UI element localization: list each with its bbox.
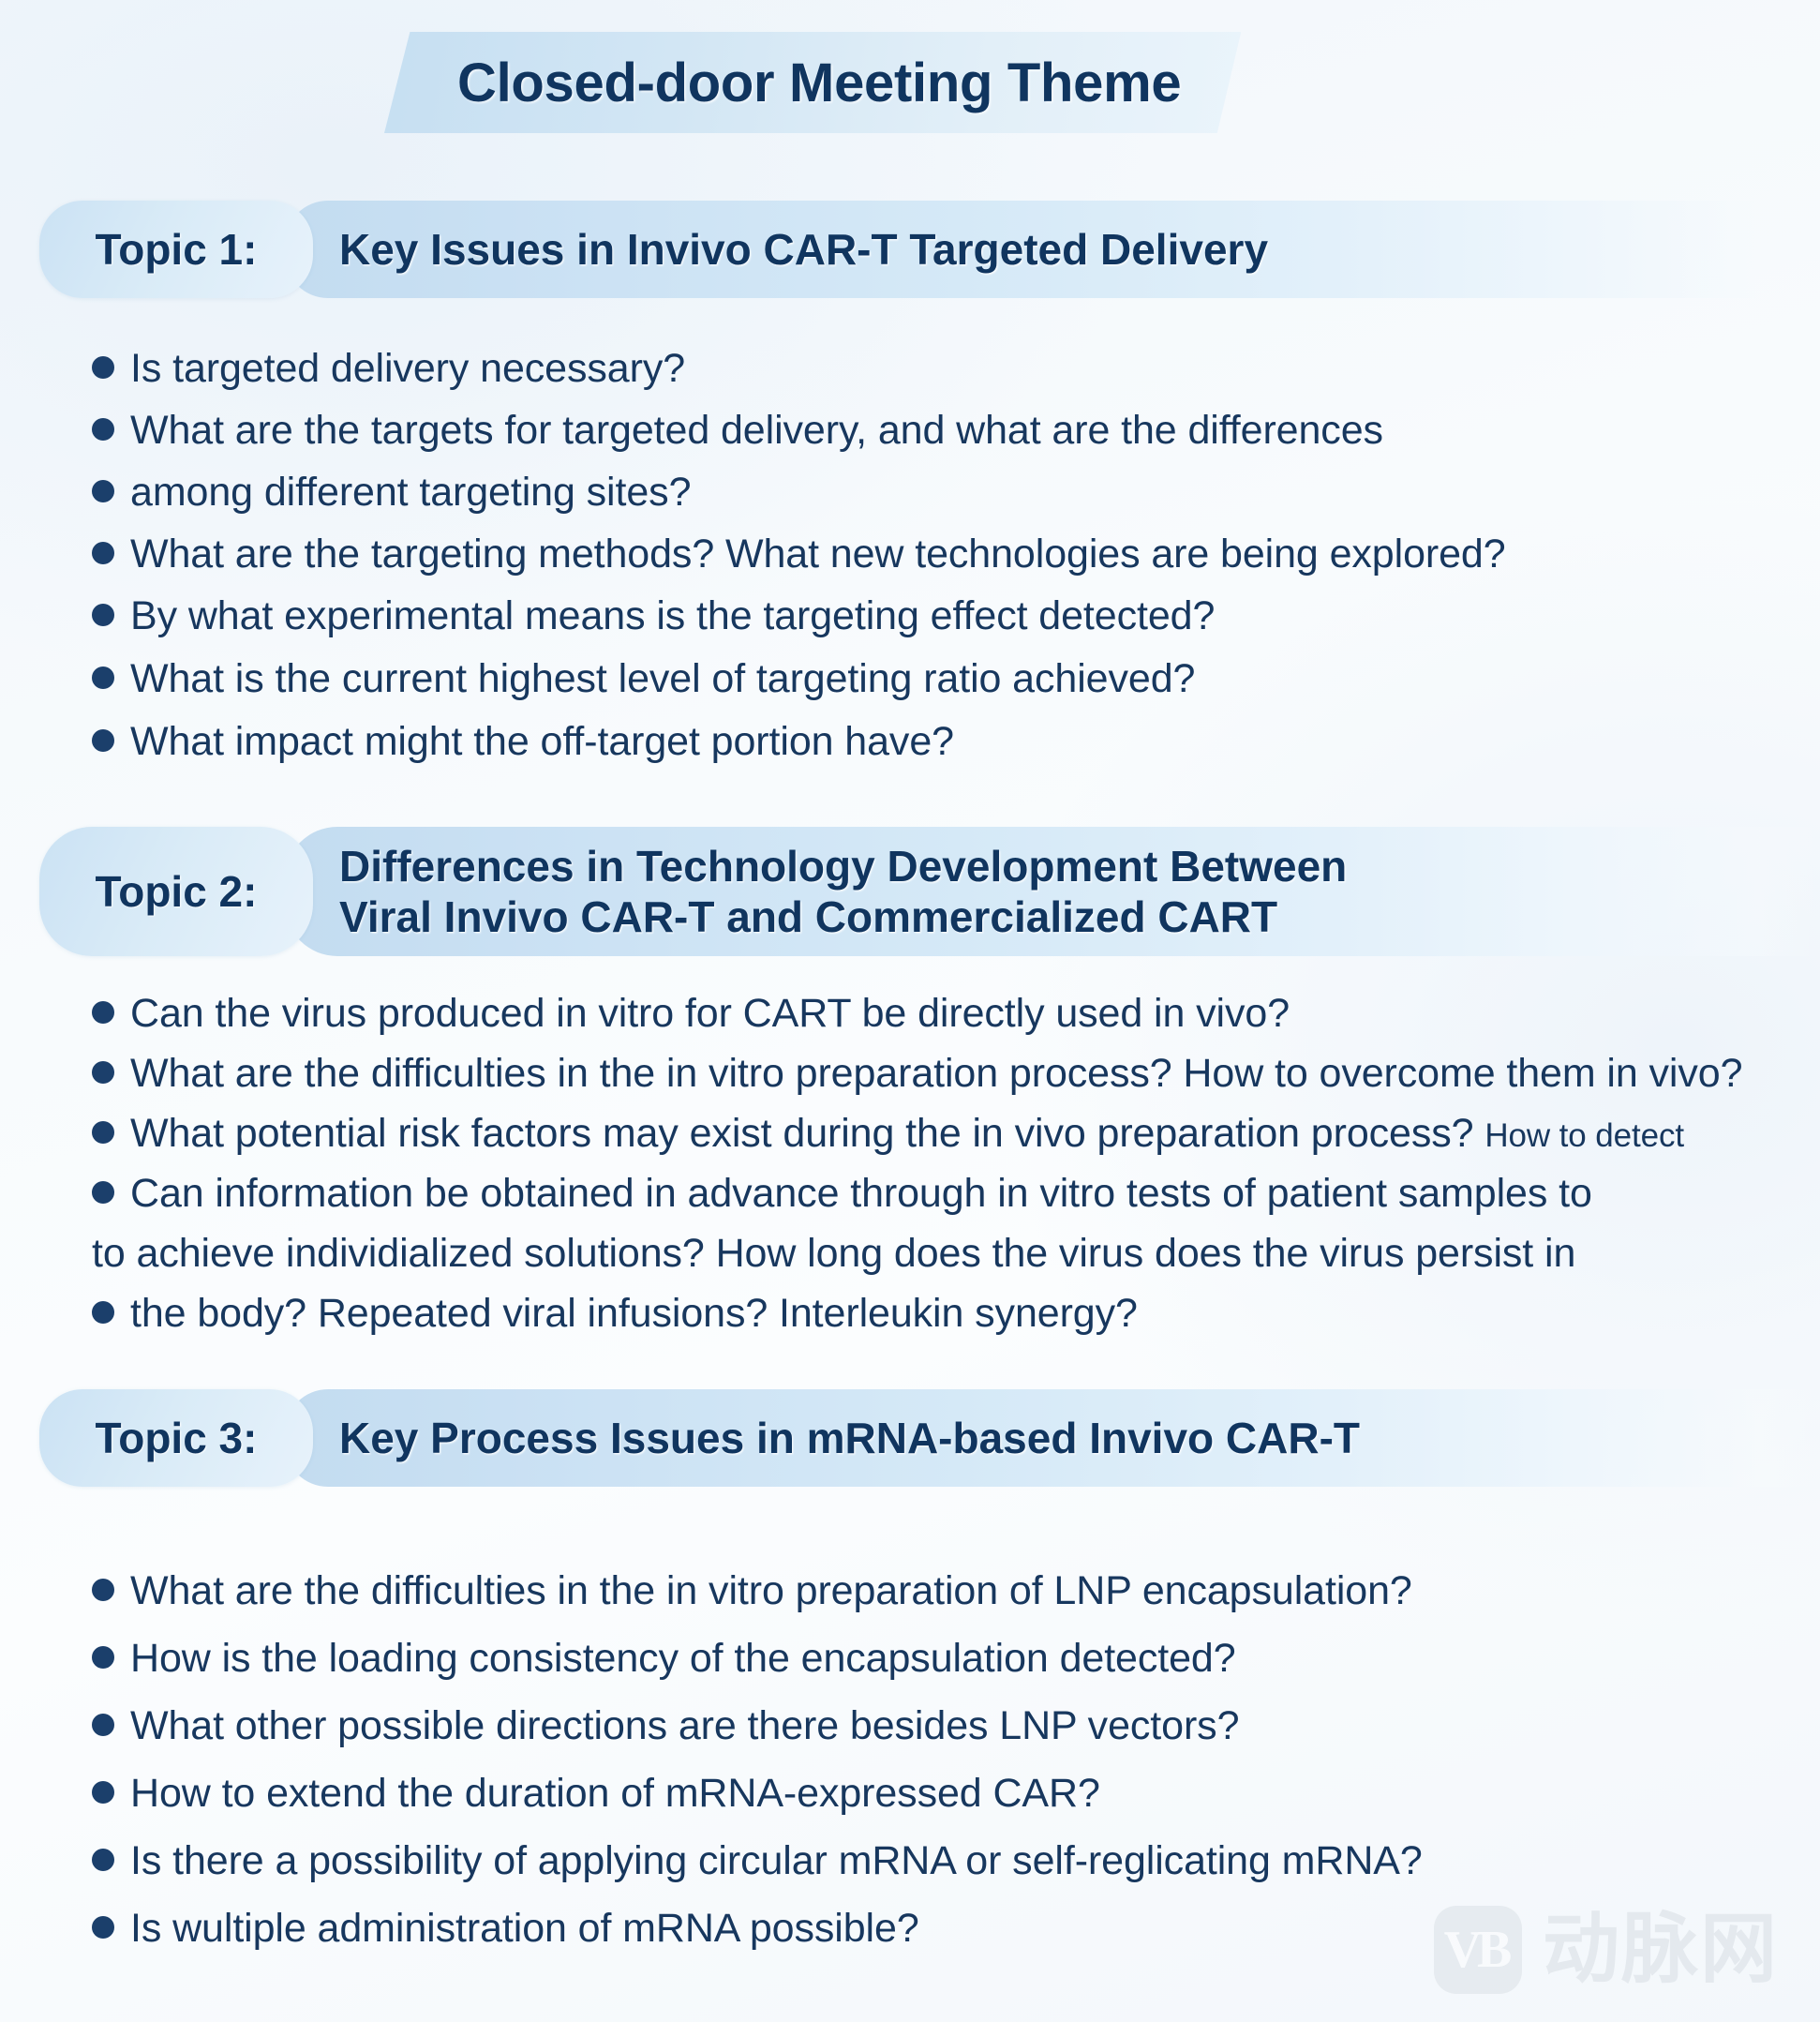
list-item-text: What potential risk factors may exist du…: [130, 1114, 1684, 1154]
list-item-text: What impact might the off-target portion…: [130, 722, 954, 762]
topic-titlebar-2: Differences in Technology Development Be…: [285, 827, 1820, 956]
list-item: What are the difficulties in the in vitr…: [0, 1054, 1820, 1114]
list-item-text-main: What potential risk factors may exist du…: [130, 1111, 1484, 1156]
bullet-dot-icon: [92, 1579, 114, 1601]
bullet-dot-icon: [92, 1849, 114, 1871]
list-item: How is the loading consistency of the en…: [0, 1639, 1820, 1706]
topic-title-2-line-1: Differences in Technology Development Be…: [339, 841, 1792, 891]
list-item: Can the virus produced in vitro for CART…: [0, 994, 1820, 1054]
bullet-dot-icon: [92, 1001, 114, 1024]
bullet-dot-icon: [92, 1121, 114, 1144]
topic-1-bullet-list: Is targeted delivery necessary? What are…: [0, 349, 1820, 782]
bullet-dot-icon: [92, 1781, 114, 1804]
bullet-dot-icon: [92, 1916, 114, 1939]
list-item: What impact might the off-target portion…: [0, 722, 1820, 782]
topic-header-3: Topic 3: Key Process Issues in mRNA-base…: [0, 1389, 1820, 1487]
list-item: What are the difficulties in the in vitr…: [0, 1571, 1820, 1639]
list-item: Is there a possibility of applying circu…: [0, 1841, 1820, 1909]
topic-titlebar-1: Key Issues in Invivo CAR-T Targeted Deli…: [285, 201, 1820, 298]
list-item: among different targeting sites?: [0, 472, 1820, 532]
topic-titlebar-3: Key Process Issues in mRNA-based Invivo …: [285, 1389, 1820, 1487]
topic-title-3-line-1: Key Process Issues in mRNA-based Invivo …: [339, 1413, 1792, 1463]
list-item-text: What is the current highest level of tar…: [130, 659, 1195, 699]
list-item: Can information be obtained in advance t…: [0, 1174, 1820, 1234]
topic-label-1: Topic 1:: [96, 224, 258, 275]
list-item: What potential risk factors may exist du…: [0, 1114, 1820, 1174]
list-item-text: How is the loading consistency of the en…: [130, 1639, 1236, 1679]
list-item-text: Can information be obtained in advance t…: [130, 1174, 1592, 1214]
topic-title-1-line-1: Key Issues in Invivo CAR-T Targeted Deli…: [339, 224, 1792, 275]
list-item-text: Can the virus produced in vitro for CART…: [130, 994, 1290, 1034]
topic-label-pill-3: Topic 3:: [39, 1389, 313, 1487]
page-title: Closed-door Meeting Theme: [457, 52, 1181, 114]
list-item-text: How to extend the duration of mRNA-expre…: [130, 1774, 1100, 1814]
list-item-text: What are the difficulties in the in vitr…: [130, 1571, 1412, 1611]
watermark-logo-text: VB: [1444, 1920, 1513, 1980]
list-item: Is targeted delivery necessary?: [0, 349, 1820, 409]
topic-label-pill-1: Topic 1:: [39, 201, 313, 298]
topic-header-2: Topic 2: Differences in Technology Devel…: [0, 827, 1820, 956]
watermark-brand-text: 动脉网: [1543, 1911, 1779, 1988]
bullet-dot-icon: [92, 418, 114, 441]
bullet-dot-icon: [92, 604, 114, 626]
list-item: the body? Repeated viral infusions? Inte…: [0, 1294, 1820, 1354]
topic-label-3: Topic 3:: [96, 1413, 258, 1463]
list-item-text: By what experimental means is the target…: [130, 596, 1215, 637]
list-item-text: What are the targets for targeted delive…: [130, 411, 1383, 451]
list-item-text: to achieve individialized solutions? How…: [92, 1234, 1575, 1274]
bullet-dot-icon: [92, 667, 114, 689]
bullet-dot-icon: [92, 480, 114, 502]
topic-label-pill-2: Topic 2:: [39, 827, 313, 956]
list-item-text: What other possible directions are there…: [130, 1706, 1239, 1746]
bullet-dot-icon: [92, 1646, 114, 1669]
title-banner: Closed-door Meeting Theme: [384, 32, 1241, 133]
list-item: By what experimental means is the target…: [0, 596, 1820, 656]
list-item-continuation: to achieve individialized solutions? How…: [0, 1234, 1820, 1294]
list-item-text-tail: How to detect: [1484, 1117, 1684, 1154]
list-item: What are the targets for targeted delive…: [0, 411, 1820, 471]
list-item: What is the current highest level of tar…: [0, 659, 1820, 719]
list-item-text: the body? Repeated viral infusions? Inte…: [130, 1294, 1138, 1334]
bullet-dot-icon: [92, 1181, 114, 1204]
bullet-dot-icon: [92, 542, 114, 564]
list-item: What other possible directions are there…: [0, 1706, 1820, 1774]
topic-label-2: Topic 2:: [96, 866, 258, 917]
list-item: What are the targeting methods? What new…: [0, 534, 1820, 594]
list-item-text: Is targeted delivery necessary?: [130, 349, 685, 389]
slide-root: Closed-door Meeting Theme Topic 1: Key I…: [0, 0, 1820, 2022]
list-item-text: Is there a possibility of applying circu…: [130, 1841, 1423, 1881]
list-item-text: What are the targeting methods? What new…: [130, 534, 1506, 575]
list-item-text: among different targeting sites?: [130, 472, 691, 513]
bullet-dot-icon: [92, 1061, 114, 1084]
watermark: VB 动脉网: [1434, 1906, 1779, 1994]
topic-title-2-line-2: Viral Invivo CAR-T and Commercialized CA…: [339, 891, 1792, 942]
topic-header-1: Topic 1: Key Issues in Invivo CAR-T Targ…: [0, 201, 1820, 298]
list-item: How to extend the duration of mRNA-expre…: [0, 1774, 1820, 1841]
bullet-dot-icon: [92, 356, 114, 379]
bullet-dot-icon: [92, 729, 114, 752]
bullet-dot-icon: [92, 1714, 114, 1736]
bullet-dot-icon: [92, 1301, 114, 1324]
list-item-text: What are the difficulties in the in vitr…: [130, 1054, 1742, 1094]
list-item-text: Is wultiple administration of mRNA possi…: [130, 1909, 919, 1949]
watermark-logo-icon: VB: [1434, 1906, 1522, 1994]
topic-2-bullet-list: Can the virus produced in vitro for CART…: [0, 994, 1820, 1354]
